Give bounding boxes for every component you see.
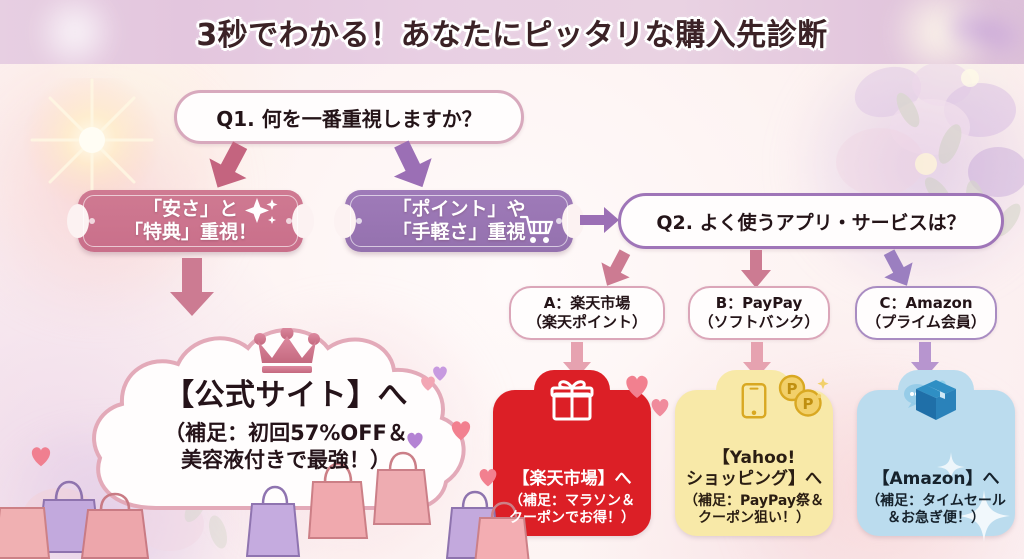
question-1-box[interactable]: Q1. 何を一番重視しますか？ xyxy=(174,90,524,144)
page-title: 3秒でわかる！あなたにピッタリな購入先診断 xyxy=(0,0,1024,64)
heart-icon xyxy=(28,444,54,468)
result-card-yahoo[interactable]: 【Yahoo! ショッピング】へ （補足：PayPay祭＆ クーポン狙い！） xyxy=(675,390,833,536)
arrow-q2-to-answer-c xyxy=(872,248,924,290)
result-official-sub-line1: （補足：初回57%OFF＆ xyxy=(164,420,408,447)
result-yahoo-title-line2: ショッピング】へ xyxy=(686,469,822,490)
title-bar: 3秒でわかる！あなたにピッタリな購入先診断 xyxy=(0,0,1024,64)
result-yahoo-sub: （補足：PayPay祭＆ クーポン狙い！） xyxy=(684,493,824,528)
question-2-label: Q2. よく使うアプリ・サービスは？ xyxy=(656,208,965,235)
plaque-notch-left xyxy=(67,204,89,238)
heart-icon xyxy=(648,396,672,418)
option-points-plaque[interactable]: 「ポイント」や 「手軽さ」重視 xyxy=(345,190,573,252)
package-box-icon xyxy=(912,376,960,424)
result-official-text: 【公式サイト】へ （補足：初回57%OFF＆ 美容液付きで最強！） xyxy=(86,370,486,510)
answer-b-paypay[interactable]: B：PayPay （ソフトバンク） xyxy=(688,286,830,340)
result-official-title: 【公式サイト】へ xyxy=(164,370,408,414)
arrow-price-to-official xyxy=(165,256,219,318)
result-yahoo-sub-line2: クーポン狙い！） xyxy=(684,510,824,528)
question-1-label: Q1. 何を一番重視しますか？ xyxy=(216,103,481,132)
answer-a-line2: （楽天ポイント） xyxy=(527,313,647,332)
answer-c-line2: （プライム会員） xyxy=(866,313,986,332)
result-rakuten-title: 【楽天市場】へ xyxy=(513,469,632,490)
answer-a-rakuten[interactable]: A：楽天市場 （楽天ポイント） xyxy=(509,286,665,340)
option-price-line2: 「特典」重視！ xyxy=(124,221,257,244)
option-points-line2: 「手軽さ」重視 xyxy=(392,221,525,244)
answer-b-line1: B：PayPay xyxy=(716,294,803,313)
option-price-plaque[interactable]: 「安さ」と 「特典」重視！ xyxy=(78,190,303,252)
plaque-dot-right xyxy=(286,218,292,224)
result-card-rakuten[interactable]: 【楽天市場】へ （補足：マラソン＆ クーポンでお得！） xyxy=(493,390,651,536)
answer-c-line1: C：Amazon xyxy=(879,294,972,313)
crown-icon xyxy=(252,328,322,374)
result-amazon-sub-line2: ＆お急ぎ便！） xyxy=(866,510,1006,528)
bg-blob-purple-right xyxy=(770,40,1024,290)
arrow-q2-to-answer-a xyxy=(590,248,642,290)
result-rakuten-sub: （補足：マラソン＆ クーポンでお得！） xyxy=(509,493,635,528)
plaque-notch-right xyxy=(292,204,314,238)
shopping-cart-icon xyxy=(519,214,557,246)
sparkle-icon xyxy=(241,196,281,228)
result-amazon-sub: （補足：タイムセール ＆お急ぎ便！） xyxy=(866,493,1006,528)
result-rakuten-sub-line1: （補足：マラソン＆ xyxy=(509,493,635,511)
result-official-sub-line2: 美容液付きで最強！） xyxy=(164,447,408,474)
shopping-bag-icon xyxy=(0,486,54,559)
gift-box-icon xyxy=(548,376,596,424)
result-rakuten-sub-line2: クーポンでお得！） xyxy=(509,510,635,528)
result-official-sub: （補足：初回57%OFF＆ 美容液付きで最強！） xyxy=(164,420,408,475)
question-2-box[interactable]: Q2. よく使うアプリ・サービスは？ xyxy=(618,193,1004,249)
result-card-amazon[interactable]: 【Amazon】へ （補足：タイムセール ＆お急ぎ便！） xyxy=(857,390,1015,536)
result-amazon-sub-line1: （補足：タイムセール xyxy=(866,493,1006,511)
plaque-dot-left xyxy=(89,218,95,224)
smartphone-icon xyxy=(736,376,772,424)
arrow-points-to-q2 xyxy=(578,205,622,235)
plaque-dot-left xyxy=(356,218,362,224)
plaque-notch-right xyxy=(562,204,584,238)
answer-c-amazon[interactable]: C：Amazon （プライム会員） xyxy=(855,286,997,340)
answer-a-line1: A：楽天市場 xyxy=(544,294,631,313)
arrow-q2-to-answer-b xyxy=(735,248,777,290)
arrow-q1-to-points xyxy=(378,140,444,192)
option-points-line1: 「ポイント」や xyxy=(392,198,525,221)
result-yahoo-title: 【Yahoo! ショッピング】へ xyxy=(686,448,822,489)
answer-b-line2: （ソフトバンク） xyxy=(699,313,820,332)
arrow-q1-to-price xyxy=(195,140,261,192)
plaque-notch-left xyxy=(334,204,356,238)
result-yahoo-title-line1: 【Yahoo! xyxy=(686,448,822,469)
result-yahoo-sub-line1: （補足：PayPay祭＆ xyxy=(684,493,824,511)
result-amazon-title: 【Amazon】へ xyxy=(872,469,999,490)
option-price-line1: 「安さ」と xyxy=(143,198,238,221)
result-official-cloud[interactable]: 【公式サイト】へ （補足：初回57%OFF＆ 美容液付きで最強！） xyxy=(86,318,486,533)
infographic-canvas: 3秒でわかる！あなたにピッタリな購入先診断 Q1. 何を一番重視しますか？ 「安… xyxy=(0,0,1024,559)
